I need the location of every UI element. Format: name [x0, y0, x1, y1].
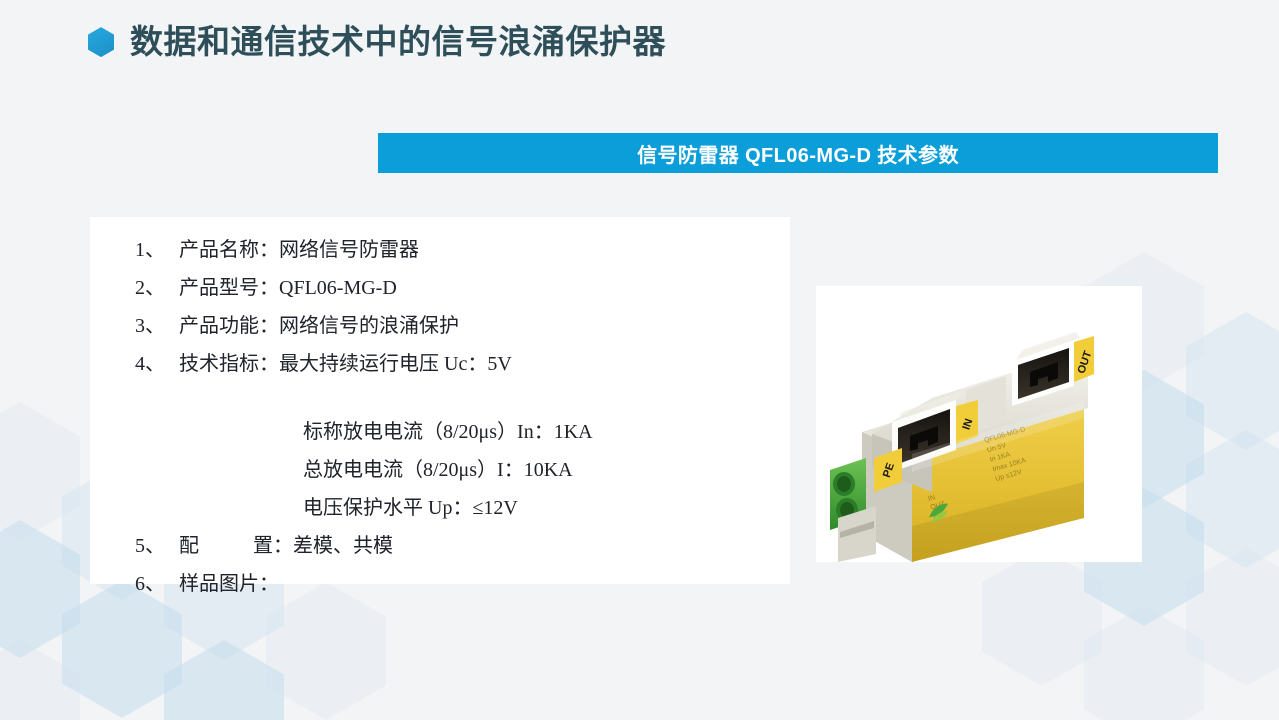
port-out-label: OUT [1074, 336, 1094, 382]
spec-subline: 标称放电电流（8/20μs）In：1KA [135, 413, 775, 451]
slide-header: 数据和通信技术中的信号浪涌保护器 [88, 24, 666, 60]
spec-label: 产品名称： [179, 231, 279, 269]
specification-list: 1、 产品名称： 网络信号防雷器 2、 产品型号： QFL06-MG-D 3、 … [135, 231, 775, 603]
spec-label: 样品图片： [179, 565, 279, 603]
spec-index: 6、 [135, 565, 179, 603]
spec-subline: 电压保护水平 Up：≤12V [135, 489, 775, 527]
spec-row: 3、 产品功能： 网络信号的浪涌保护 [135, 307, 775, 345]
spec-index: 3、 [135, 307, 179, 345]
product-photo-card: OUT IN PE [816, 286, 1142, 562]
product-photo: OUT IN PE [816, 286, 1142, 562]
surge-protector-illustration: OUT IN PE [816, 286, 1142, 562]
spec-index: 1、 [135, 231, 179, 269]
page-title: 数据和通信技术中的信号浪涌保护器 [130, 24, 666, 60]
spec-index: 5、 [135, 527, 179, 565]
spec-label: 技术指标： [179, 345, 279, 383]
hexagon-icon [88, 27, 114, 57]
section-banner: 信号防雷器 QFL06-MG-D 技术参数 [378, 133, 1218, 173]
spec-row: 4、 技术指标： 最大持续运行电压 Uc：5V [135, 345, 775, 383]
spec-value: 网络信号的浪涌保护 [279, 307, 459, 345]
spec-value: 网络信号防雷器 [279, 231, 419, 269]
spec-index: 4、 [135, 345, 179, 383]
specification-card: 1、 产品名称： 网络信号防雷器 2、 产品型号： QFL06-MG-D 3、 … [90, 217, 790, 584]
spacer [135, 383, 775, 413]
spec-row: 2、 产品型号： QFL06-MG-D [135, 269, 775, 307]
spec-label-2: 置： [253, 527, 293, 565]
spec-label: 产品型号： [179, 269, 279, 307]
spec-subline: 总放电电流（8/20μs）I：10KA [135, 451, 775, 489]
spec-row: 6、 样品图片： [135, 565, 775, 603]
spec-label: 产品功能： [179, 307, 279, 345]
section-banner-title: 信号防雷器 QFL06-MG-D 技术参数 [637, 139, 959, 168]
spec-index: 2、 [135, 269, 179, 307]
spec-value: 差模、共模 [293, 527, 393, 565]
spec-row: 1、 产品名称： 网络信号防雷器 [135, 231, 775, 269]
spec-row: 5、 配 置： 差模、共模 [135, 527, 775, 565]
spec-value: 最大持续运行电压 Uc：5V [279, 345, 512, 383]
spec-label: 配 [179, 527, 199, 565]
spec-value: QFL06-MG-D [279, 269, 397, 307]
